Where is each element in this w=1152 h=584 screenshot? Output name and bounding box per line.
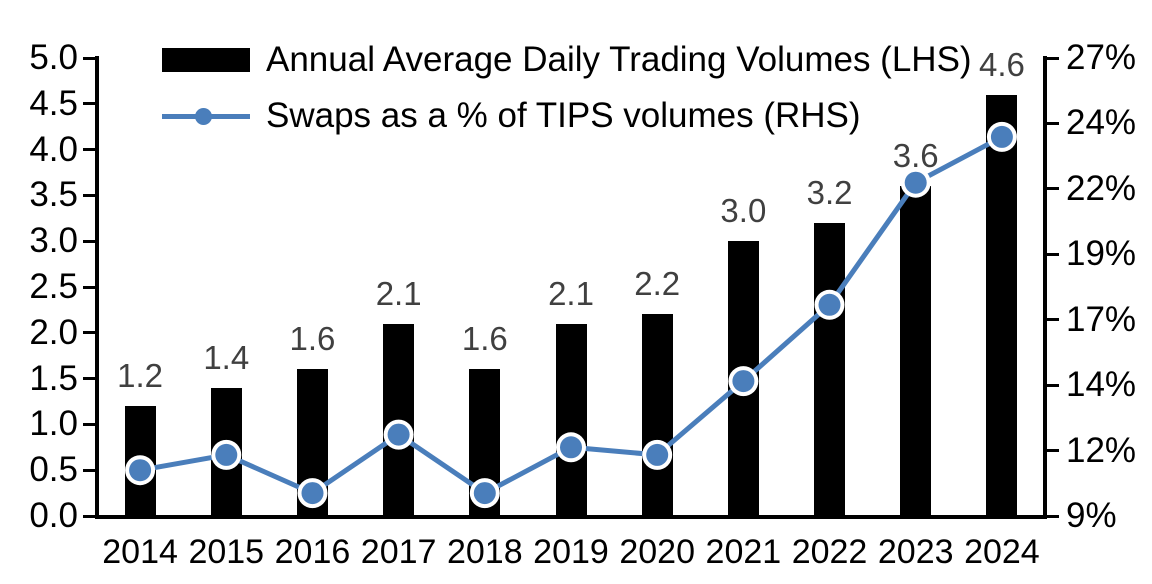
left-axis-tick-label: 0.5 xyxy=(0,452,78,487)
bar-value-label-2017: 2.1 xyxy=(354,277,444,310)
right-axis-tick-label: 27% xyxy=(1066,40,1152,75)
legend-label-line: Swaps as a % of TIPS volumes (RHS) xyxy=(266,98,861,133)
left-axis-tick-label: 2.5 xyxy=(0,269,78,304)
bar-value-label-2021: 3.0 xyxy=(698,194,788,227)
left-axis-tick-mark xyxy=(83,240,97,243)
bar-value-label-2020: 2.2 xyxy=(612,267,702,300)
legend-entry-line[interactable]: Swaps as a % of TIPS volumes (RHS) xyxy=(162,98,861,133)
left-axis-tick-label: 2.0 xyxy=(0,315,78,350)
right-axis-tick-mark xyxy=(1045,57,1059,60)
right-axis-tick-mark xyxy=(1045,122,1059,125)
left-axis-tick-mark xyxy=(83,102,97,105)
right-axis-tick-label: 9% xyxy=(1066,498,1152,533)
bar-2021[interactable] xyxy=(728,241,759,516)
bar-2019[interactable] xyxy=(556,324,587,516)
left-axis-tick-mark xyxy=(83,331,97,334)
x-axis-label-2024: 2024 xyxy=(947,535,1057,569)
bar-2022[interactable] xyxy=(814,223,845,516)
bar-value-label-2023: 3.6 xyxy=(871,139,961,172)
left-axis-tick-label: 3.5 xyxy=(0,177,78,212)
right-axis-tick-label: 12% xyxy=(1066,433,1152,468)
left-axis-tick-label: 5.0 xyxy=(0,40,78,75)
left-axis-tick-label: 4.5 xyxy=(0,86,78,121)
left-axis-tick-label: 1.0 xyxy=(0,406,78,441)
legend-line-marker-icon xyxy=(162,103,250,129)
left-axis-tick-mark xyxy=(83,515,97,518)
left-axis-tick-mark xyxy=(83,194,97,197)
bar-2016[interactable] xyxy=(297,369,328,516)
left-axis-tick-label: 3.0 xyxy=(0,223,78,258)
bar-value-label-2024: 4.6 xyxy=(957,48,1047,81)
legend-entry-bars[interactable]: Annual Average Daily Trading Volumes (LH… xyxy=(162,42,972,77)
bar-2023[interactable] xyxy=(900,186,931,516)
left-axis-tick-mark xyxy=(83,469,97,472)
right-axis-tick-mark xyxy=(1045,253,1059,256)
right-axis-tick-label: 24% xyxy=(1066,105,1152,140)
legend-label-bars: Annual Average Daily Trading Volumes (LH… xyxy=(266,42,972,77)
right-axis-tick-label: 14% xyxy=(1066,367,1152,402)
right-axis-tick-mark xyxy=(1045,449,1059,452)
bar-2018[interactable] xyxy=(469,369,500,516)
chart-container: Annual Average Daily Trading Volumes (LH… xyxy=(0,0,1152,584)
bar-2014[interactable] xyxy=(125,406,156,516)
left-axis-tick-mark xyxy=(83,286,97,289)
bar-value-label-2018: 1.6 xyxy=(440,322,530,355)
bar-2020[interactable] xyxy=(642,314,673,516)
left-axis-tick-mark xyxy=(83,423,97,426)
left-axis-tick-mark xyxy=(83,148,97,151)
right-axis-tick-label: 19% xyxy=(1066,236,1152,271)
right-axis-tick-label: 17% xyxy=(1066,302,1152,337)
bar-2015[interactable] xyxy=(211,388,242,516)
bar-value-label-2022: 3.2 xyxy=(785,176,875,209)
left-axis-tick-mark xyxy=(83,57,97,60)
bar-value-label-2016: 1.6 xyxy=(267,322,357,355)
left-axis-tick-label: 1.5 xyxy=(0,361,78,396)
bar-value-label-2014: 1.2 xyxy=(95,359,185,392)
legend-bar-swatch-icon xyxy=(162,48,250,72)
right-axis-tick-mark xyxy=(1045,187,1059,190)
right-axis-tick-mark xyxy=(1045,384,1059,387)
left-axis-tick-label: 0.0 xyxy=(0,498,78,533)
bar-2024[interactable] xyxy=(986,95,1017,516)
bar-2017[interactable] xyxy=(383,324,414,516)
left-axis-tick-label: 4.0 xyxy=(0,132,78,167)
right-axis-tick-label: 22% xyxy=(1066,171,1152,206)
right-axis-tick-mark xyxy=(1045,318,1059,321)
bar-value-label-2015: 1.4 xyxy=(181,341,271,374)
right-axis-tick-mark xyxy=(1045,515,1059,518)
bar-value-label-2019: 2.1 xyxy=(526,277,616,310)
